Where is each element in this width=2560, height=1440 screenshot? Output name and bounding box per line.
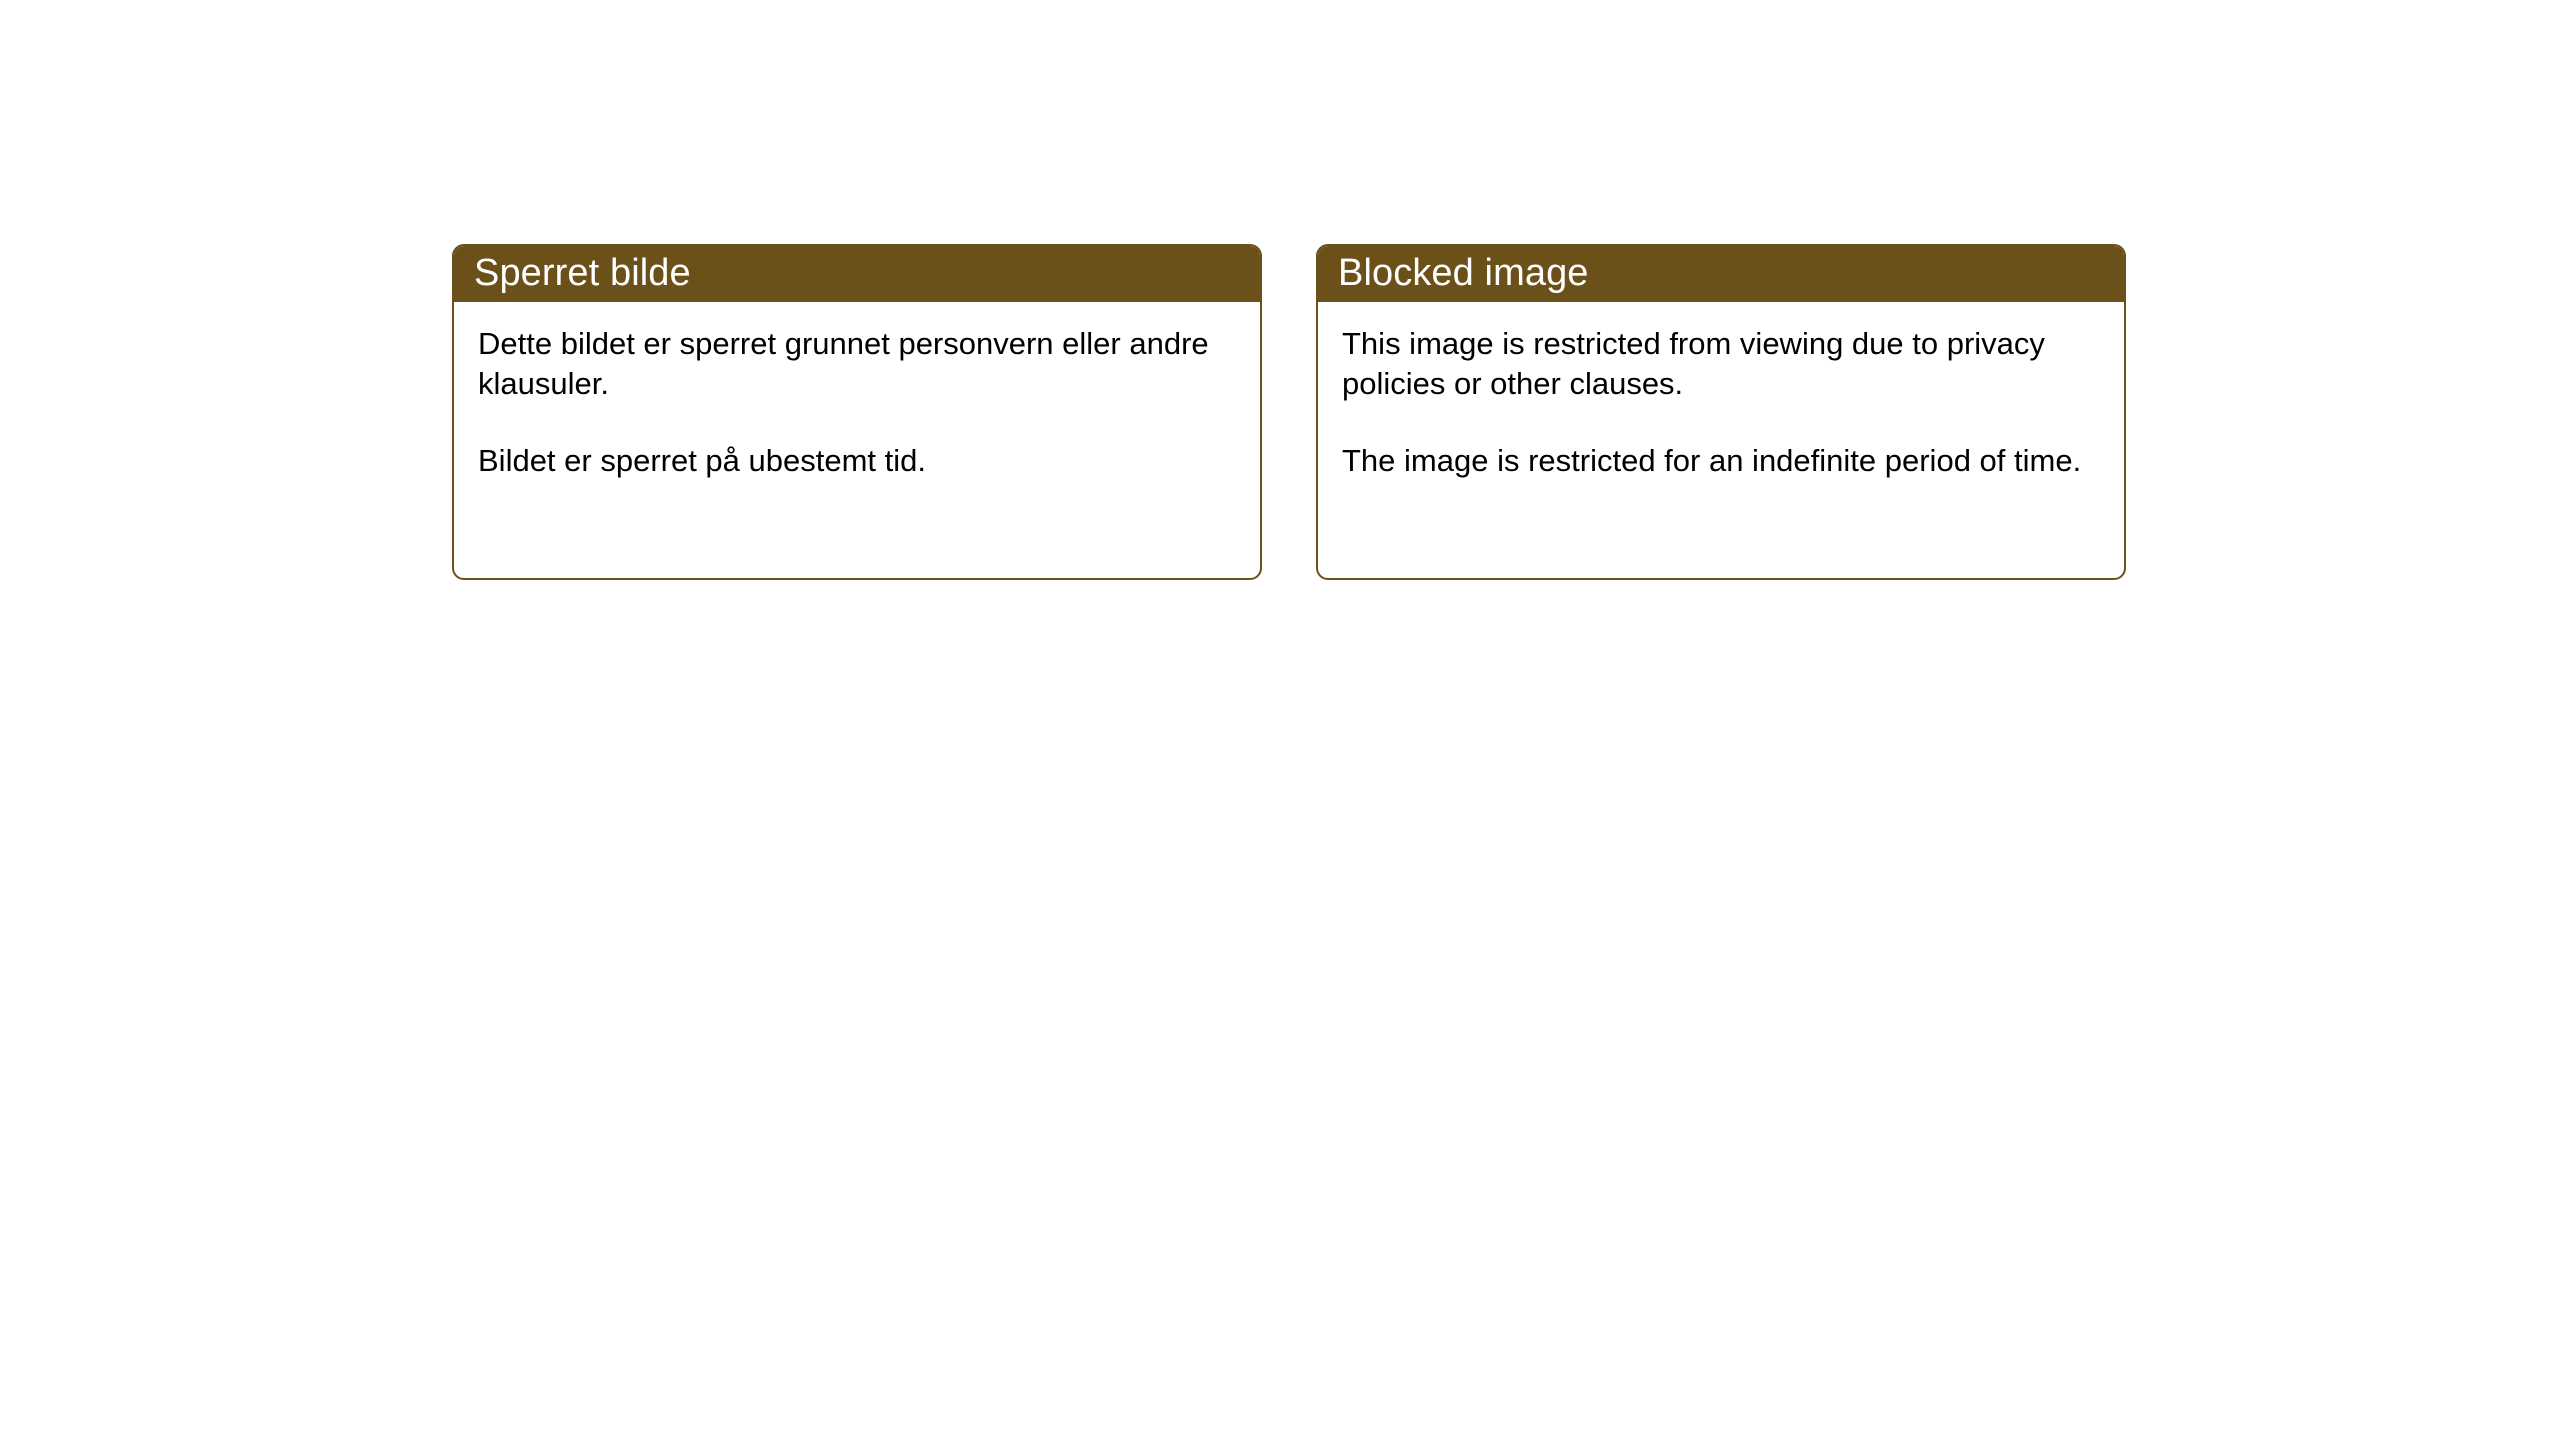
blocked-image-notice-panel-english: Blocked image This image is restricted f… [1316,244,2126,580]
panel-paragraph-reason-norwegian: Dette bildet er sperret grunnet personve… [478,324,1236,405]
blocked-image-notice-panel-norwegian: Sperret bilde Dette bildet er sperret gr… [452,244,1262,580]
panel-title-norwegian: Sperret bilde [474,254,691,292]
panel-body-norwegian: Dette bildet er sperret grunnet personve… [454,302,1260,501]
panel-header-norwegian: Sperret bilde [452,244,1262,302]
panel-paragraph-duration-norwegian: Bildet er sperret på ubestemt tid. [478,441,1236,481]
panel-title-english: Blocked image [1338,254,1589,292]
panel-body-english: This image is restricted from viewing du… [1318,302,2124,501]
panel-paragraph-reason-english: This image is restricted from viewing du… [1342,324,2100,405]
panel-header-english: Blocked image [1316,244,2126,302]
page-canvas: Sperret bilde Dette bildet er sperret gr… [0,0,2560,1440]
panel-paragraph-duration-english: The image is restricted for an indefinit… [1342,441,2100,481]
